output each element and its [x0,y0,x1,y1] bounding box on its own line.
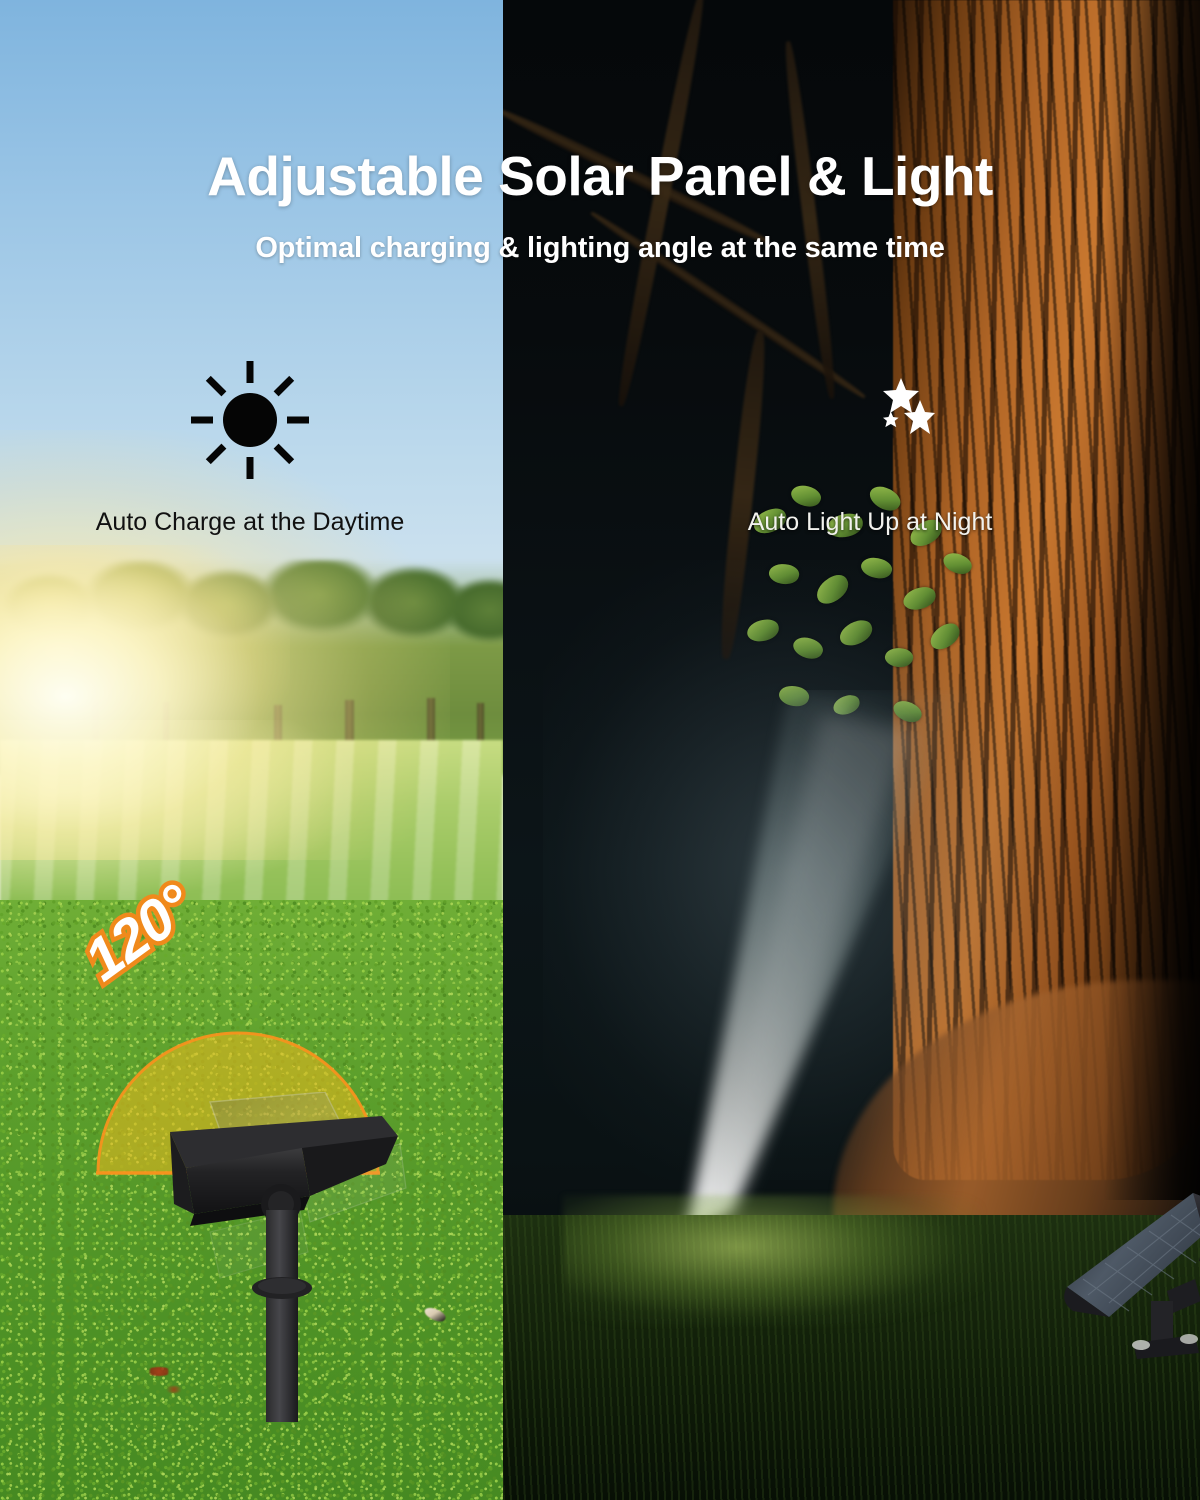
grass-lit-patch [563,1195,983,1325]
star-large [883,378,919,413]
leaf [767,561,801,587]
leaf [940,548,975,578]
moon-stars-icon-svg [805,360,935,480]
solar-spotlight-adjustable [150,1092,410,1422]
base-foot-highlight [1180,1334,1198,1344]
leaf [926,619,964,653]
nighttime-panel [503,0,1200,1500]
spotlight-svg [150,1092,410,1422]
feature-day-label: Auto Charge at the Daytime [40,508,460,537]
lawn-sun-highlight [0,720,360,900]
star-small [883,411,899,427]
solar-panel-spotlight [1055,1175,1200,1360]
page-subtitle: Optimal charging & lighting angle at the… [0,232,1200,265]
moon-stars-icon [660,360,1080,480]
leaf [890,696,925,727]
leaf [859,554,895,583]
sun-icon [40,360,460,480]
page-title: Adjustable Solar Panel & Light [0,148,1200,206]
feature-day-charge: Auto Charge at the Daytime [40,360,460,537]
ground-stake-pole [266,1210,298,1422]
feature-night-light: Auto Light Up at Night [660,360,1080,537]
leaf [836,617,875,649]
product-feature-poster: 120° [0,0,1200,1500]
leaf [884,646,915,670]
leaf [777,682,811,709]
leaf [790,633,826,663]
base-foot-highlight [1132,1340,1150,1350]
sun-icon-svg [189,359,311,481]
crescent-moon [831,374,877,466]
solar-light-svg [1055,1175,1200,1360]
leaf [901,585,938,612]
feature-night-label: Auto Light Up at Night [660,508,1080,537]
daytime-panel: 120° [0,0,503,1500]
leaf [831,693,862,717]
leaf [812,570,854,608]
leaf [746,618,781,643]
